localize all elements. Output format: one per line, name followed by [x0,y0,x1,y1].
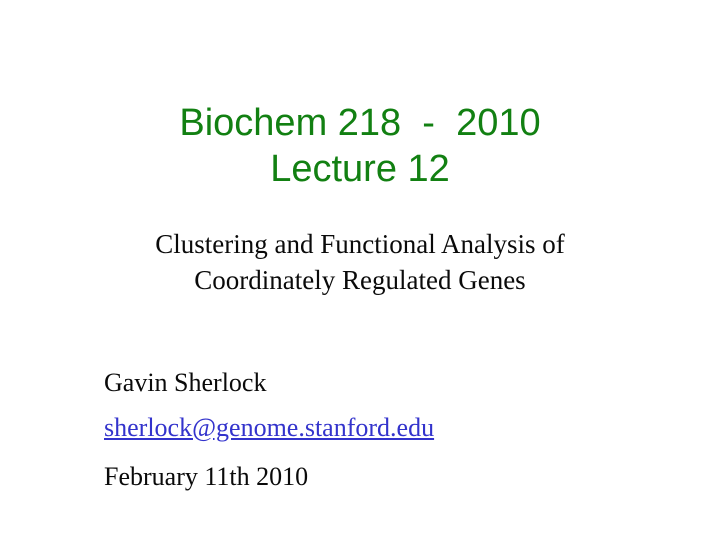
presenter-email-row: sherlock@genome.stanford.edu [104,405,644,454]
presentation-date: February 11th 2010 [104,454,644,499]
slide-title: Biochem 218 - 2010 Lecture 12 [0,100,720,192]
presenter-name: Gavin Sherlock [104,360,644,405]
subtitle-line-1: Clustering and Functional Analysis of [0,226,720,262]
presentation-slide: Biochem 218 - 2010 Lecture 12 Clustering… [0,0,720,540]
subtitle-line-2: Coordinately Regulated Genes [0,262,720,298]
slide-subtitle: Clustering and Functional Analysis of Co… [0,226,720,298]
presenter-email-link[interactable]: sherlock@genome.stanford.edu [104,405,434,450]
presenter-block: Gavin Sherlock sherlock@genome.stanford.… [104,360,644,499]
title-line-lecture: Lecture 12 [0,146,720,192]
title-line-course: Biochem 218 - 2010 [0,100,720,146]
